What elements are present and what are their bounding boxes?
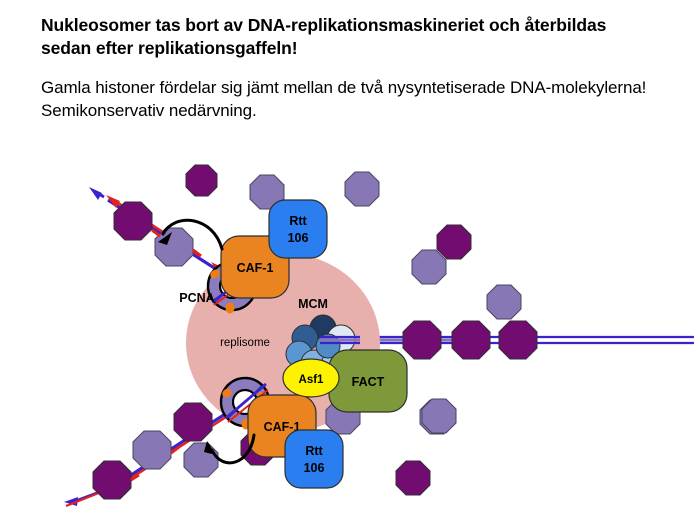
diagram-figure: CAF-1 Rtt 106 CAF-1 Rtt 106 FACT [0,150,694,520]
rtt106-bottom-label-line1: Rtt [305,444,323,458]
asf1-label: Asf1 [299,374,325,386]
rtt106-top-label-line1: Rtt [289,214,307,228]
free-nucleosome-old-2 [437,225,471,259]
parental-nucleosome-3 [499,321,537,359]
rtt106-top-shape[interactable] [269,200,327,258]
upper-daughter-nucleosome-new [155,228,193,266]
free-nucleosome-new-8 [412,250,446,284]
free-nucleosome-new-3 [487,285,521,319]
rtt106-top-label-line2: 106 [288,231,309,245]
upper-daughter-nucleosome-old [114,202,152,240]
asf1-chaperone[interactable]: Asf1 [283,359,339,397]
pcna-label: PCNA [179,291,214,305]
parental-nucleosome-2 [452,321,490,359]
replication-fork-diagram-svg: CAF-1 Rtt 106 CAF-1 Rtt 106 FACT [0,150,694,520]
parental-nucleosome-1 [403,321,441,359]
mcm-label: MCM [298,297,328,311]
lower-daughter-nucleosome-old-1 [174,403,212,441]
rtt106-top-chaperone[interactable]: Rtt 106 [269,200,327,258]
page-subtitle: Gamla histoner fördelar sig jämt mellan … [41,77,661,123]
free-nucleosome-new-2 [345,172,379,206]
rtt106-bottom-label-line2: 106 [304,461,325,475]
free-nucleosome-old-4 [396,461,430,495]
fact-label: FACT [352,375,385,389]
lower-daughter-nucleosome-old-2 [93,461,131,499]
slide-canvas: Nukleosomer tas bort av DNA-replikations… [0,0,694,520]
fact-complex[interactable]: FACT [329,350,407,412]
rtt106-bottom-chaperone[interactable]: Rtt 106 [285,430,343,488]
page-title: Nukleosomer tas bort av DNA-replikations… [41,14,661,61]
upper-daughter-blue-arrowhead [89,187,102,200]
free-nucleosome-new-4 [184,443,218,477]
free-nucleosome-new-7 [422,399,456,433]
upper-daughter-nucleosomes [114,202,201,266]
parental-nucleosome-chain [403,321,537,359]
lower-daughter-nucleosome-new-1 [133,431,171,469]
free-nucleosome-old-1 [186,165,217,196]
rtt106-bottom-shape[interactable] [285,430,343,488]
pcna-upper-subunit-c [226,303,235,314]
caf1-top-label: CAF-1 [237,261,274,275]
dna-over-mcm [320,337,360,343]
replisome-label: replisome [220,337,270,349]
